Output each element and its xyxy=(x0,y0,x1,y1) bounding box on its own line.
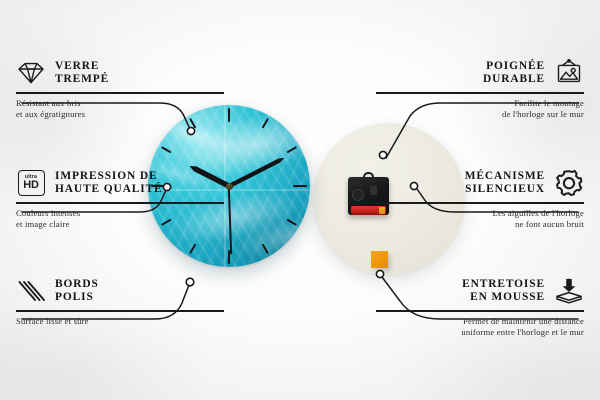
feature-divider xyxy=(376,310,584,312)
feature-desc-line2: uniforme entre l'horloge et le mur xyxy=(461,327,584,337)
polished-edges-icon xyxy=(16,276,46,306)
feature-title: ENTRETOISE EN MOUSSE xyxy=(462,278,545,305)
feature-poignee-durable: POIGNÉE DURABLE Facilite le montage de xyxy=(376,58,584,120)
feature-title-line2: SILENCIEUX xyxy=(465,183,545,195)
feature-divider xyxy=(376,202,584,204)
diamond-icon xyxy=(16,58,46,88)
feature-desc-line2: de l'horloge sur le mur xyxy=(502,109,584,119)
hd-badge-main-label: HD xyxy=(23,180,39,191)
feature-title-line1: POIGNÉE xyxy=(486,60,545,72)
connector-dot-verre-trempe xyxy=(187,127,194,134)
hd-badge: ultra HD xyxy=(18,170,45,196)
feature-title-line2: DURABLE xyxy=(483,73,545,85)
feature-description: Résistant aux bris et aux égratignures xyxy=(16,98,224,120)
feature-desc-line1: Permet de maintenir une distance xyxy=(463,316,584,326)
foam-spacer-icon xyxy=(554,276,584,306)
feature-title: BORDS POLIS xyxy=(55,278,99,305)
feature-title: VERRE TREMPÉ xyxy=(55,60,109,87)
hanging-frame-icon xyxy=(554,58,584,88)
feature-title-line1: VERRE xyxy=(55,60,99,72)
feature-description: Couleurs intenses et image claire xyxy=(16,208,224,230)
connector-dot-poignee xyxy=(379,151,386,158)
feature-desc-line2: et image claire xyxy=(16,219,70,229)
feature-title-line1: IMPRESSION DE xyxy=(55,170,158,182)
feature-header: ENTRETOISE EN MOUSSE xyxy=(376,276,584,306)
feature-desc-line1: Les aiguilles de l'horloge xyxy=(493,208,584,218)
feature-verre-trempe: VERRE TREMPÉ Résistant aux bris et aux é… xyxy=(16,58,224,120)
feature-description: Surface lisse et sûre xyxy=(16,316,224,327)
feature-desc-line1: Surface lisse et sûre xyxy=(16,316,89,326)
feature-impression-haute-qualite: ultra HD IMPRESSION DE HAUTE QUALITÉ Cou… xyxy=(16,168,224,230)
feature-title-line1: ENTRETOISE xyxy=(462,278,545,290)
feature-header: BORDS POLIS xyxy=(16,276,224,306)
feature-divider xyxy=(16,202,224,204)
feature-header: VERRE TREMPÉ xyxy=(16,58,224,88)
feature-title-line2: TREMPÉ xyxy=(55,73,109,85)
feature-desc-line1: Résistant aux bris xyxy=(16,98,81,108)
feature-title-line2: EN MOUSSE xyxy=(470,291,545,303)
feature-description: Facilite le montage de l'horloge sur le … xyxy=(376,98,584,120)
feature-divider xyxy=(376,92,584,94)
feature-description: Permet de maintenir une distance uniform… xyxy=(376,316,584,338)
feature-entretoise-en-mousse: ENTRETOISE EN MOUSSE Permet de maintenir… xyxy=(376,276,584,338)
feature-title-line2: HAUTE QUALITÉ xyxy=(55,183,163,195)
feature-divider xyxy=(16,310,224,312)
infographic-canvas: VERRE TREMPÉ Résistant aux bris et aux é… xyxy=(0,0,600,400)
feature-bords-polis: BORDS POLIS Surface lisse et sûre xyxy=(16,276,224,327)
ultra-hd-badge-icon: ultra HD xyxy=(16,168,46,198)
feature-header: POIGNÉE DURABLE xyxy=(376,58,584,88)
feature-title-line2: POLIS xyxy=(55,291,94,303)
feature-desc-line1: Facilite le montage xyxy=(514,98,584,108)
feature-header: ultra HD IMPRESSION DE HAUTE QUALITÉ xyxy=(16,168,224,198)
feature-mecanisme-silencieux: MÉCANISME SILENCIEUX Les aiguilles de l'… xyxy=(376,168,584,230)
feature-description: Les aiguilles de l'horloge ne font aucun… xyxy=(376,208,584,230)
feature-divider xyxy=(16,92,224,94)
feature-desc-line2: ne font aucun bruit xyxy=(515,219,584,229)
feature-desc-line2: et aux égratignures xyxy=(16,109,85,119)
feature-header: MÉCANISME SILENCIEUX xyxy=(376,168,584,198)
feature-title-line1: BORDS xyxy=(55,278,99,290)
feature-title: IMPRESSION DE HAUTE QUALITÉ xyxy=(55,170,163,197)
feature-desc-line1: Couleurs intenses xyxy=(16,208,80,218)
feature-title: POIGNÉE DURABLE xyxy=(483,60,545,87)
gear-icon xyxy=(554,168,584,198)
feature-title: MÉCANISME SILENCIEUX xyxy=(465,170,545,197)
feature-title-line1: MÉCANISME xyxy=(465,170,545,182)
